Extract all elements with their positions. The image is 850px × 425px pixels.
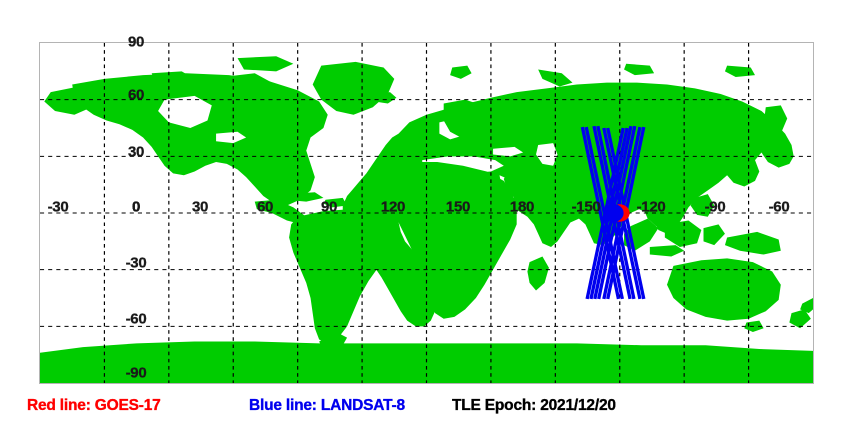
lon-label--30: -30 (48, 200, 69, 215)
lon-label--60: -60 (769, 200, 790, 215)
lon-label--90: -90 (705, 200, 726, 215)
lat-label-30: 30 (128, 145, 144, 160)
lat-label-60: 60 (128, 88, 144, 103)
legend-tle-epoch: TLE Epoch: 2021/12/20 (452, 398, 616, 414)
lon-label--150: -150 (572, 200, 601, 215)
lon-label-30: 30 (192, 200, 208, 215)
lon-label-60: 60 (257, 200, 273, 215)
legend-blue-line-landsat8: Blue line: LANDSAT-8 (249, 398, 405, 414)
world-map (39, 42, 814, 384)
lat-label-0: 0 (132, 200, 140, 215)
lat-label--30: -30 (126, 256, 147, 271)
landsat8-position-marker (603, 204, 624, 222)
lon-label-90: 90 (321, 200, 337, 215)
lat-label-90: 90 (128, 35, 144, 50)
map-canvas (40, 43, 813, 383)
map-legend: Red line: GOES-17 Blue line: LANDSAT-8 T… (0, 392, 850, 420)
lon-label--120: -120 (637, 200, 666, 215)
satellite-track-map-page: -30 0 30 60 90 120 150 180 -150 -120 -90… (0, 0, 850, 425)
legend-red-line-goes17: Red line: GOES-17 (27, 398, 161, 414)
lat-label--90: -90 (126, 366, 147, 381)
lon-label-120: 120 (381, 200, 405, 215)
lat-label--60: -60 (126, 312, 147, 327)
lon-label-150: 150 (446, 200, 470, 215)
lon-label-180: 180 (510, 200, 534, 215)
